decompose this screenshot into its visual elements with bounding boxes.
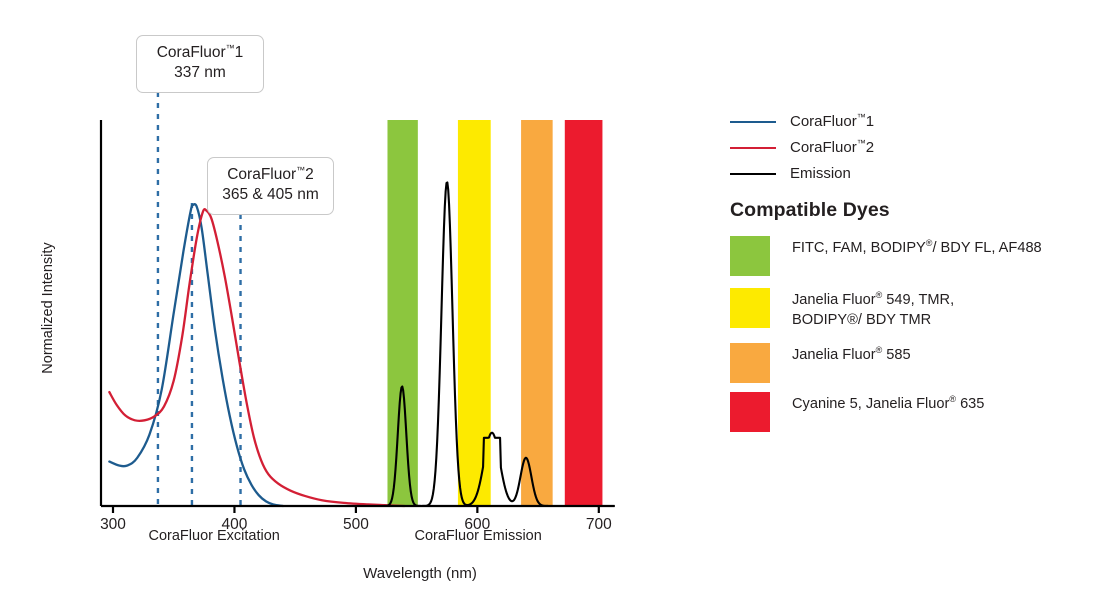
callout2-line1: CoraFluor™2 xyxy=(218,165,323,185)
legend-item-emission: Emission xyxy=(730,165,851,182)
dye-label-line2: BODIPY®/ BDY TMR xyxy=(792,311,954,331)
dye-color-swatch xyxy=(730,343,770,383)
legend-swatch-line xyxy=(730,121,776,123)
dye-row-2: Janelia Fluor® 585 xyxy=(730,343,911,383)
dye-label: Janelia Fluor® 585 xyxy=(792,343,911,366)
legend-swatch-line xyxy=(730,173,776,175)
dye-label: Cyanine 5, Janelia Fluor® 635 xyxy=(792,392,984,415)
legend-item-label: Emission xyxy=(790,165,851,182)
spectra-plot: CoraFluor™1 337 nm CoraFluor™2 365 & 405… xyxy=(0,0,740,612)
dye-band-orange xyxy=(521,120,553,506)
dye-label: Janelia Fluor® 549, TMR,BODIPY®/ BDY TMR xyxy=(792,288,954,330)
side-panel: CoraFluor™1CoraFluor™2Emission Compatibl… xyxy=(730,0,1110,612)
dye-label: FITC, FAM, BODIPY®/ BDY FL, AF488 xyxy=(792,236,1042,259)
callout1-line2: 337 nm xyxy=(147,63,253,83)
x-axis-title: Wavelength (nm) xyxy=(290,565,550,582)
x-tick-label-700: 700 xyxy=(569,516,629,534)
dye-color-swatch xyxy=(730,236,770,276)
callout2-line2: 365 & 405 nm xyxy=(218,185,323,205)
dye-row-1: Janelia Fluor® 549, TMR,BODIPY®/ BDY TMR xyxy=(730,288,954,330)
dye-color-swatch xyxy=(730,392,770,432)
legend-item-corafluor1: CoraFluor™1 xyxy=(730,113,874,130)
y-axis-title: Normalized Intensity xyxy=(40,208,56,408)
legend-item-corafluor2: CoraFluor™2 xyxy=(730,139,874,156)
dye-row-3: Cyanine 5, Janelia Fluor® 635 xyxy=(730,392,984,432)
compatible-dyes-title: Compatible Dyes xyxy=(730,199,890,222)
chart-page: CoraFluor™1 337 nm CoraFluor™2 365 & 405… xyxy=(0,0,1110,612)
dye-color-swatch xyxy=(730,288,770,328)
dye-row-0: FITC, FAM, BODIPY®/ BDY FL, AF488 xyxy=(730,236,1042,276)
dye-band-green xyxy=(387,120,417,506)
curve-corafluor2 xyxy=(109,209,404,506)
region-label-emission: CoraFluor Emission xyxy=(415,528,542,544)
legend-item-label: CoraFluor™1 xyxy=(790,113,874,130)
region-label-excitation: CoraFluor Excitation xyxy=(149,528,280,544)
legend-item-label: CoraFluor™2 xyxy=(790,139,874,156)
x-tick-label-500: 500 xyxy=(326,516,386,534)
dye-band-yellow xyxy=(458,120,491,506)
dye-band-red xyxy=(565,120,603,506)
curve-corafluor1 xyxy=(109,204,283,506)
legend-swatch-line xyxy=(730,147,776,149)
callout-corafluor2: CoraFluor™2 365 & 405 nm xyxy=(207,157,334,215)
x-tick-label-300: 300 xyxy=(83,516,143,534)
callout1-line1: CoraFluor™1 xyxy=(147,43,253,63)
callout-corafluor1: CoraFluor™1 337 nm xyxy=(136,35,264,93)
